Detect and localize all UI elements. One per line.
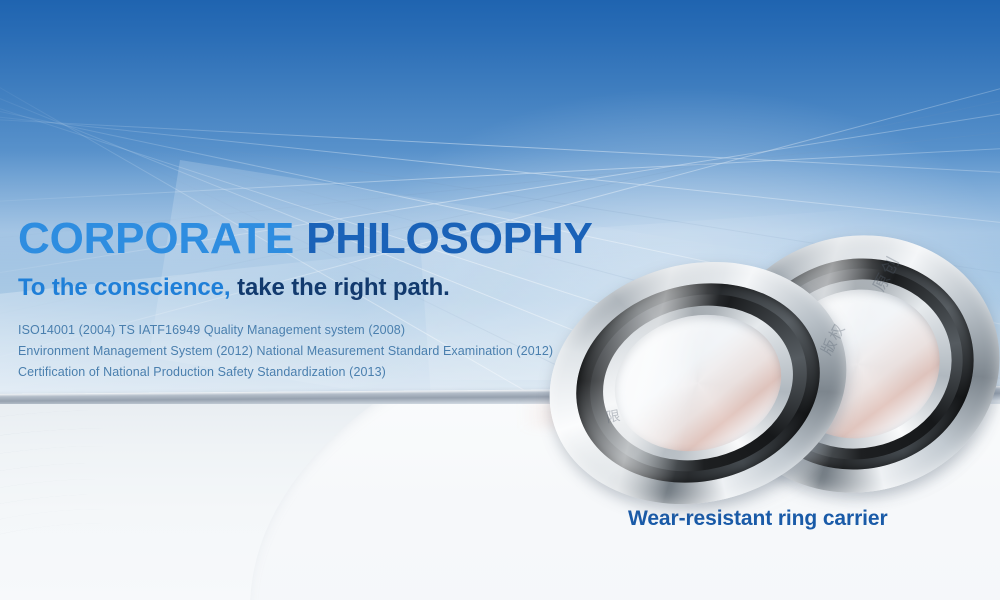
page-title: CORPORATE PHILOSOPHY bbox=[18, 214, 638, 264]
subheadline-part-two: take the right path. bbox=[237, 274, 450, 301]
copy-block: CORPORATE PHILOSOPHY To the conscience, … bbox=[18, 214, 638, 383]
certification-item: ISO14001 (2004) TS IATF16949 Quality Man… bbox=[18, 320, 638, 341]
subheadline: To the conscience, take the right path. bbox=[18, 274, 638, 302]
certification-list: ISO14001 (2004) TS IATF16949 Quality Man… bbox=[18, 320, 638, 383]
subheadline-part-one: To the conscience, bbox=[18, 274, 230, 301]
headline-word-corporate: CORPORATE bbox=[18, 214, 294, 263]
certification-item: Environment Management System (2012) Nat… bbox=[18, 341, 638, 362]
product-image-rings: 原创 版权 限 bbox=[548, 236, 1000, 506]
corporate-philosophy-banner: CORPORATE PHILOSOPHY To the conscience, … bbox=[0, 0, 1000, 600]
certification-item: Certification of National Production Saf… bbox=[18, 362, 638, 383]
